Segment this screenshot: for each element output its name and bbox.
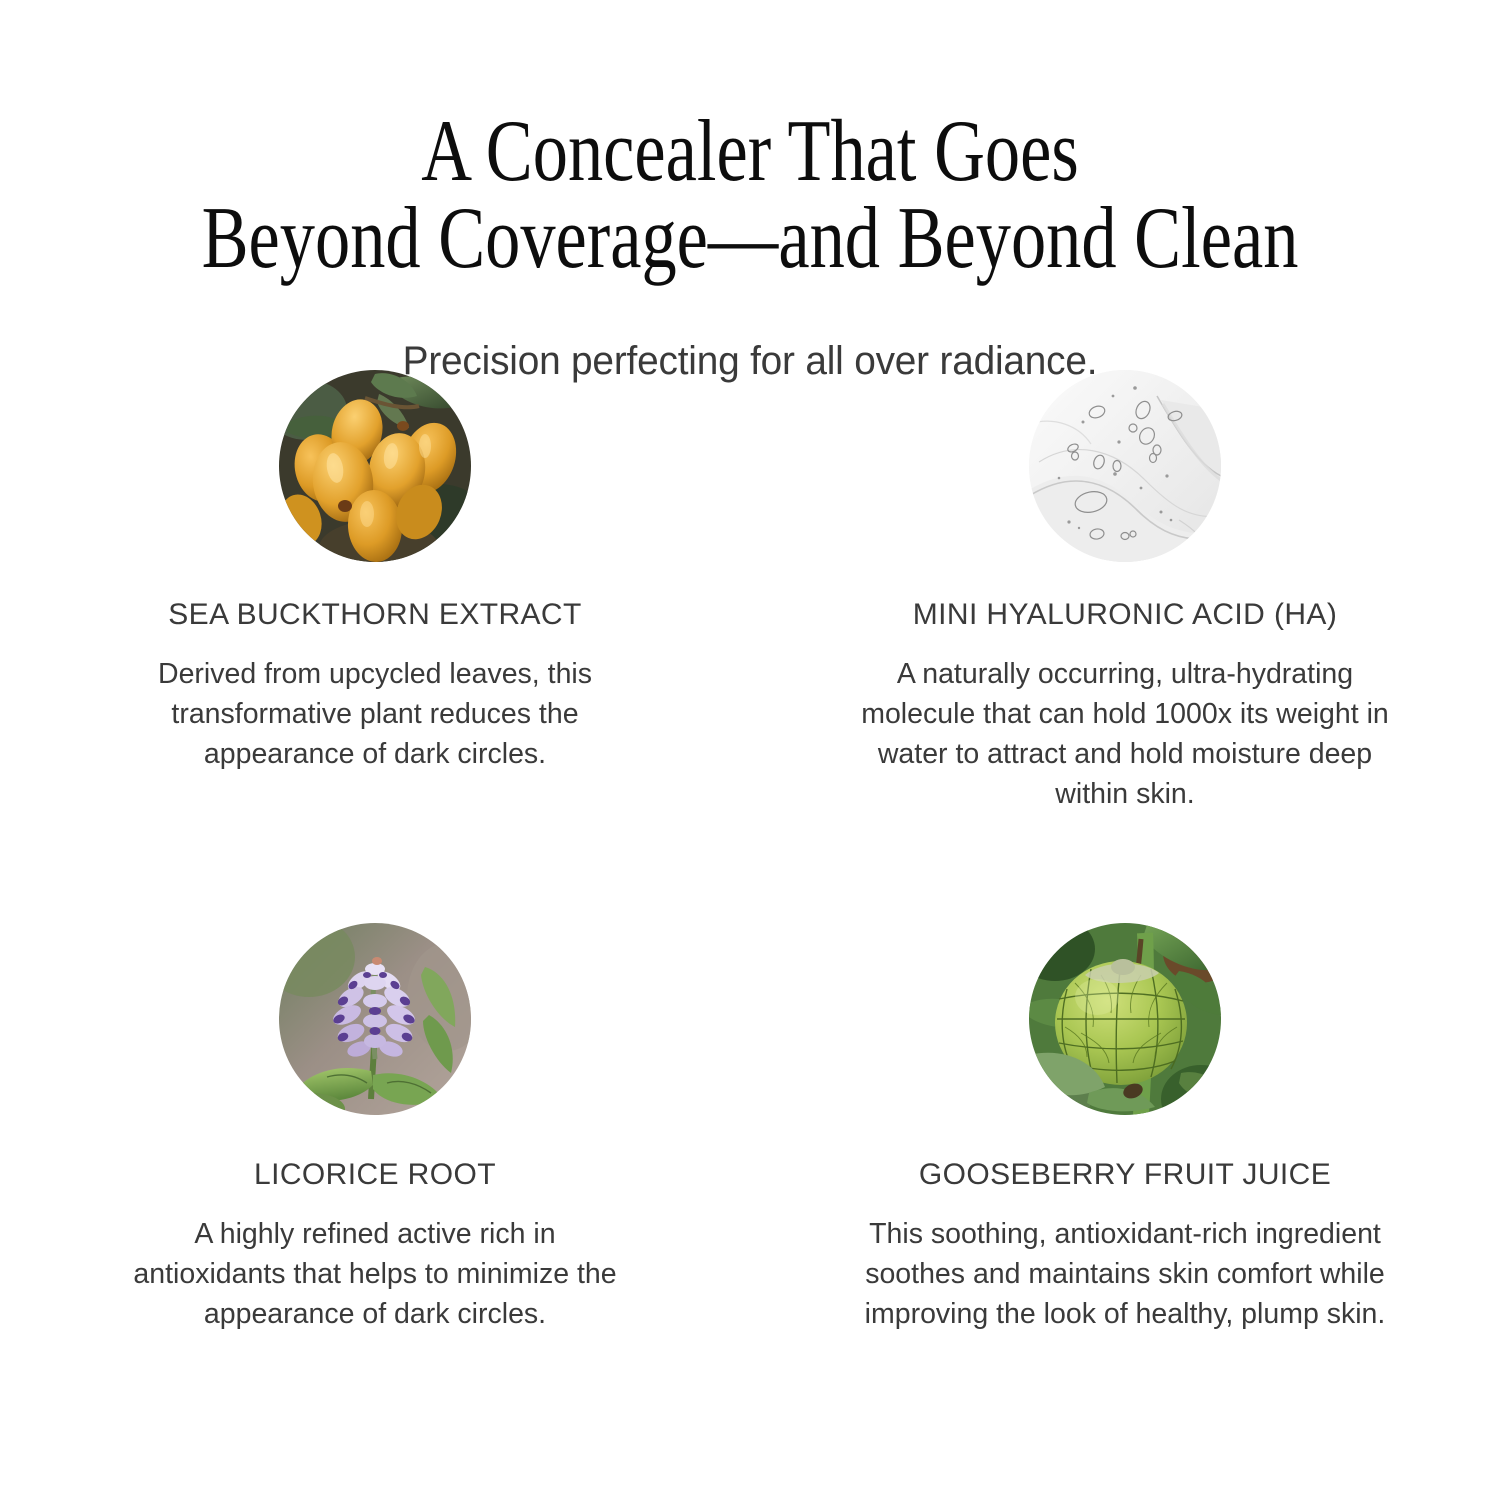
headline-line-1: A Concealer That Goes <box>150 108 1350 195</box>
ingredient-description: A naturally occurring, ultra-hydrating m… <box>845 655 1405 815</box>
page-title: A Concealer That Goes Beyond Coverage—an… <box>150 108 1350 282</box>
ingredient-benefits-page: A Concealer That Goes Beyond Coverage—an… <box>0 0 1500 1500</box>
ingredient-description: A highly refined active rich in antioxid… <box>115 1215 635 1335</box>
ingredient-description: Derived from upcycled leaves, this trans… <box>115 655 635 775</box>
ingredient-card-hyaluronic-acid: MINI HYALURONIC ACID (HA) A naturally oc… <box>750 370 1500 905</box>
gooseberry-image <box>1029 923 1221 1115</box>
headline-line-2: Beyond Coverage—and Beyond Clean <box>150 195 1350 282</box>
ingredient-description: This soothing, antioxidant-rich ingredie… <box>845 1215 1405 1335</box>
ingredient-name: LICORICE ROOT <box>254 1157 496 1193</box>
ingredient-name: MINI HYALURONIC ACID (HA) <box>913 597 1337 633</box>
ingredient-card-gooseberry: GOOSEBERRY FRUIT JUICE This soothing, an… <box>750 905 1500 1335</box>
ingredient-grid: SEA BUCKTHORN EXTRACT Derived from upcyc… <box>0 370 1500 1335</box>
ingredient-name: GOOSEBERRY FRUIT JUICE <box>919 1157 1331 1193</box>
page-header: A Concealer That Goes Beyond Coverage—an… <box>0 0 1500 384</box>
hyaluronic-acid-image <box>1029 370 1221 562</box>
ingredient-card-sea-buckthorn: SEA BUCKTHORN EXTRACT Derived from upcyc… <box>0 370 750 905</box>
licorice-root-image <box>279 923 471 1115</box>
sea-buckthorn-image <box>279 370 471 562</box>
ingredient-card-licorice-root: LICORICE ROOT A highly refined active ri… <box>0 905 750 1335</box>
ingredient-name: SEA BUCKTHORN EXTRACT <box>168 597 581 633</box>
